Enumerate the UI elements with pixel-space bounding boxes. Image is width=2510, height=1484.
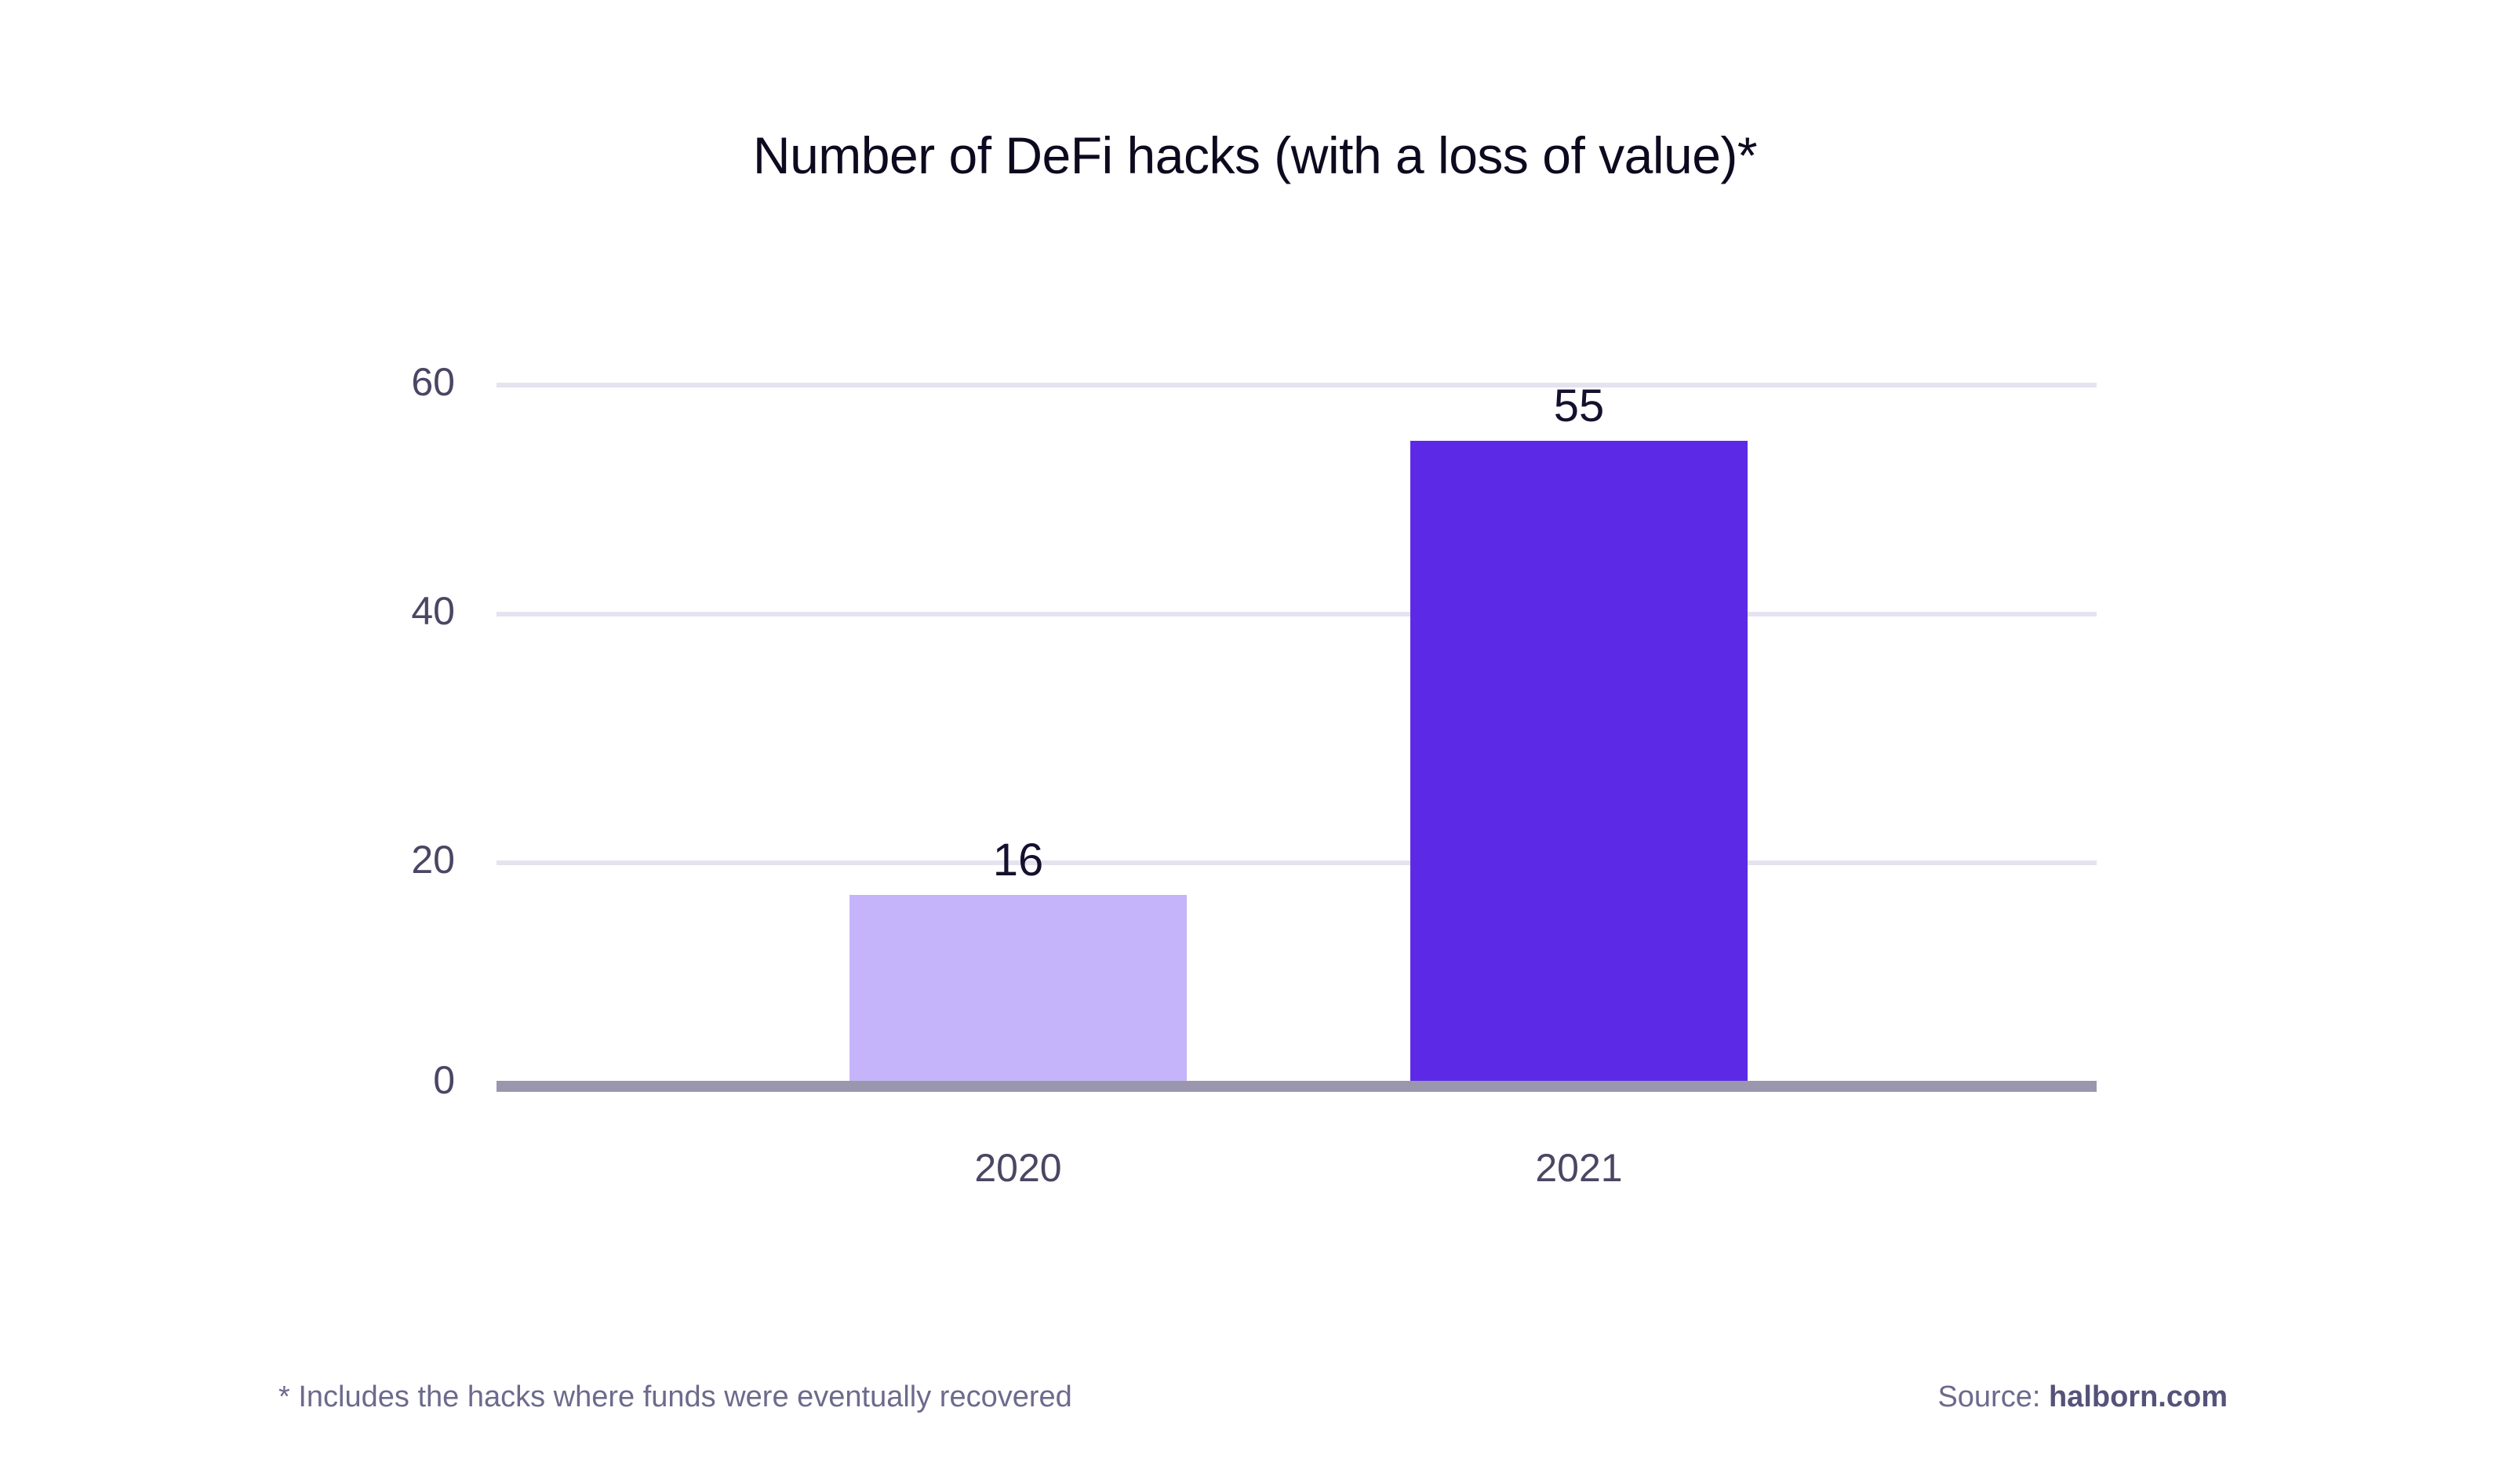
- chart-title: Number of DeFi hacks (with a loss of val…: [0, 125, 2510, 185]
- y-tick-label-20: 20: [47, 837, 455, 882]
- y-tick-label-40: 40: [47, 588, 455, 634]
- x-tick-label-2020: 2020: [849, 1145, 1187, 1191]
- bar-2020[interactable]: [849, 895, 1187, 1081]
- bar-value-label-2021: 55: [1410, 380, 1748, 432]
- footnote: * Includes the hacks where funds were ev…: [278, 1380, 1072, 1414]
- source-attribution: Source: halborn.com: [1937, 1380, 2228, 1414]
- chart-figure: Number of DeFi hacks (with a loss of val…: [0, 0, 2510, 1484]
- source-link[interactable]: halborn.com: [2049, 1380, 2228, 1413]
- bar-value-label-2020: 16: [849, 834, 1187, 886]
- gridline-20: [497, 860, 2097, 865]
- y-tick-label-0: 0: [47, 1057, 455, 1103]
- source-prefix: Source:: [1937, 1380, 2049, 1413]
- x-tick-label-2021: 2021: [1410, 1145, 1748, 1191]
- gridline-60: [497, 383, 2097, 387]
- bar-2021[interactable]: [1410, 441, 1748, 1081]
- gridline-40: [497, 612, 2097, 617]
- y-tick-label-60: 60: [47, 359, 455, 405]
- plot-area: [497, 383, 2097, 1081]
- x-axis-baseline: [497, 1081, 2097, 1092]
